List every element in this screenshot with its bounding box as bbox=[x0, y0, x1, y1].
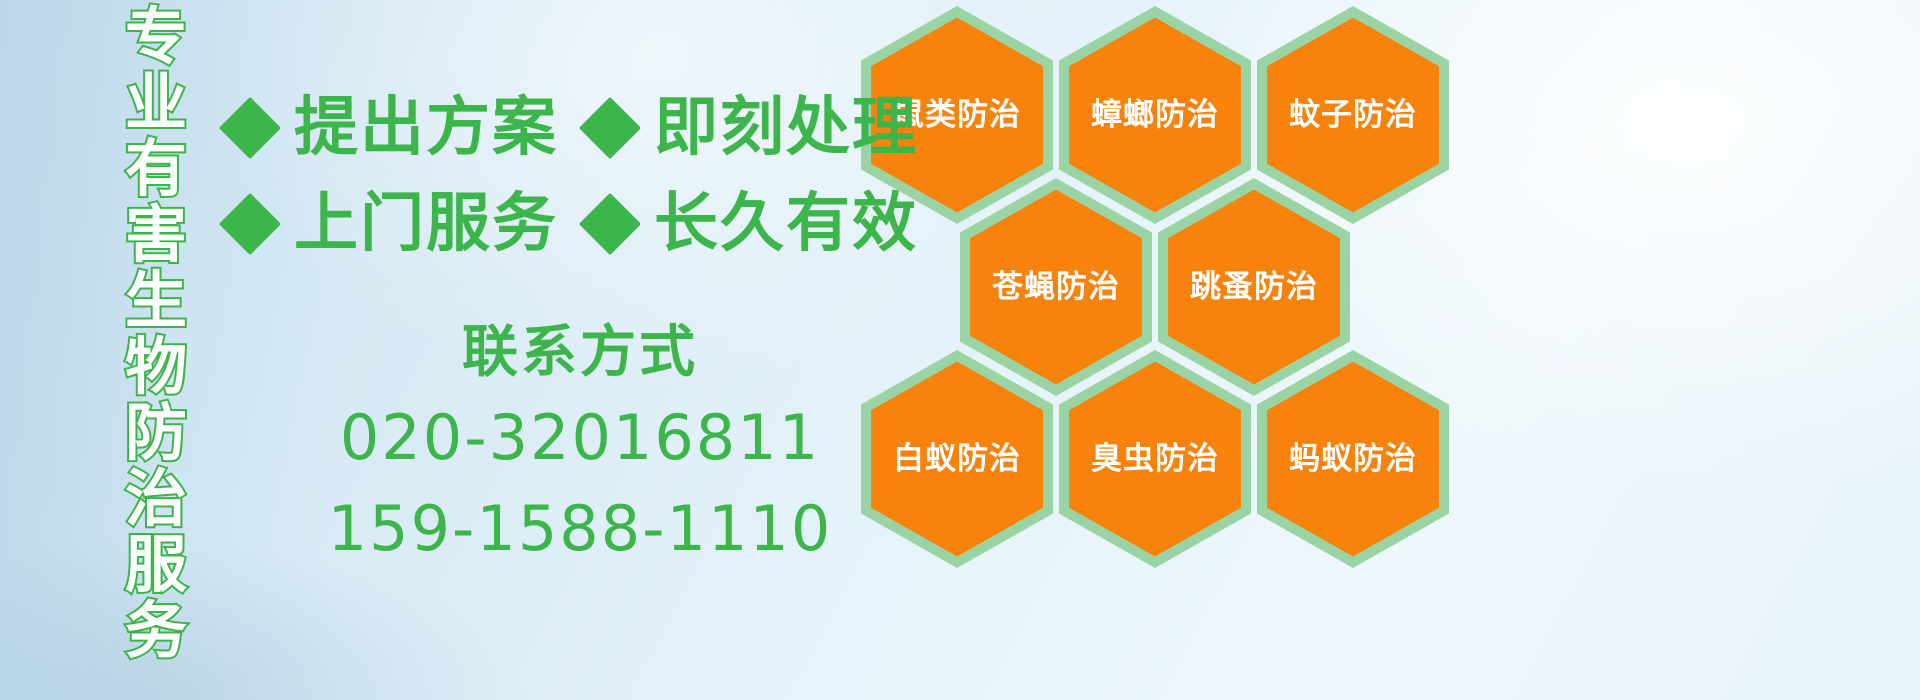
service-label: 臭虫防治 bbox=[1091, 444, 1219, 475]
feature-list: 提出方案 即刻处理 上门服务 长久有效 bbox=[228, 80, 918, 272]
service-label: 蚊子防治 bbox=[1289, 100, 1417, 131]
vertical-headline-char: 物 bbox=[125, 336, 187, 398]
vertical-headline-char: 服 bbox=[125, 534, 187, 596]
feature-label: 即刻处理 bbox=[654, 96, 918, 160]
service-honeycomb: 鼠类防治 蟑螂防治 蚊子防治 苍蝇防治 跳蚤防治 白蚁防治 bbox=[855, 0, 1455, 560]
feature-label: 提出方案 bbox=[294, 96, 558, 160]
diamond-bullet-icon bbox=[219, 97, 281, 159]
phone-landline[interactable]: 020-32016811 bbox=[300, 398, 860, 479]
hex-inner: 白蚁防治 bbox=[871, 362, 1043, 557]
diamond-bullet-icon bbox=[579, 97, 641, 159]
service-hex-mosquito[interactable]: 蚊子防治 bbox=[1257, 6, 1449, 224]
contact-title: 联系方式 bbox=[300, 318, 860, 388]
hex-inner: 蚂蚁防治 bbox=[1267, 362, 1439, 557]
service-label: 苍蝇防治 bbox=[992, 272, 1120, 303]
feature-label: 长久有效 bbox=[654, 192, 918, 256]
service-hex-termite[interactable]: 白蚁防治 bbox=[861, 350, 1053, 568]
service-hex-ant[interactable]: 蚂蚁防治 bbox=[1257, 350, 1449, 568]
vertical-headline: 专 业 有 害 生 物 防 治 服 务 bbox=[108, 6, 204, 566]
vertical-headline-char: 防 bbox=[125, 402, 187, 464]
feature-label: 上门服务 bbox=[294, 192, 558, 256]
hex-inner: 蚊子防治 bbox=[1267, 18, 1439, 213]
feature-row: 提出方案 即刻处理 bbox=[228, 80, 918, 176]
hex-inner: 跳蚤防治 bbox=[1168, 190, 1340, 385]
vertical-headline-char: 务 bbox=[125, 600, 187, 662]
service-label: 跳蚤防治 bbox=[1190, 272, 1318, 303]
feature-item: 长久有效 bbox=[588, 192, 918, 256]
vertical-headline-char: 害 bbox=[125, 204, 187, 266]
diamond-bullet-icon bbox=[219, 193, 281, 255]
feature-item: 提出方案 bbox=[228, 96, 558, 160]
service-label: 蚂蚁防治 bbox=[1289, 444, 1417, 475]
vertical-headline-char: 有 bbox=[125, 138, 187, 200]
pest-control-banner: 专 业 有 害 生 物 防 治 服 务 提出方案 即刻处理 上门服务 bbox=[0, 0, 1920, 700]
vertical-headline-char: 治 bbox=[125, 468, 187, 530]
service-hex-fly[interactable]: 苍蝇防治 bbox=[960, 178, 1152, 396]
contact-block: 联系方式 020-32016811 159-1588-1110 bbox=[300, 318, 860, 569]
vertical-headline-char: 业 bbox=[125, 72, 187, 134]
hex-inner: 蟑螂防治 bbox=[1069, 18, 1241, 213]
feature-item: 即刻处理 bbox=[588, 96, 918, 160]
service-hex-cockroach[interactable]: 蟑螂防治 bbox=[1059, 6, 1251, 224]
service-label: 白蚁防治 bbox=[893, 444, 1021, 475]
service-hex-flea[interactable]: 跳蚤防治 bbox=[1158, 178, 1350, 396]
service-hex-bedbug[interactable]: 臭虫防治 bbox=[1059, 350, 1251, 568]
hex-inner: 苍蝇防治 bbox=[970, 190, 1142, 385]
phone-mobile[interactable]: 159-1588-1110 bbox=[300, 489, 860, 570]
feature-row: 上门服务 长久有效 bbox=[228, 176, 918, 272]
feature-item: 上门服务 bbox=[228, 192, 558, 256]
hex-inner: 臭虫防治 bbox=[1069, 362, 1241, 557]
service-label: 蟑螂防治 bbox=[1091, 100, 1219, 131]
diamond-bullet-icon bbox=[579, 193, 641, 255]
vertical-headline-char: 专 bbox=[125, 6, 187, 68]
vertical-headline-char: 生 bbox=[125, 270, 187, 332]
